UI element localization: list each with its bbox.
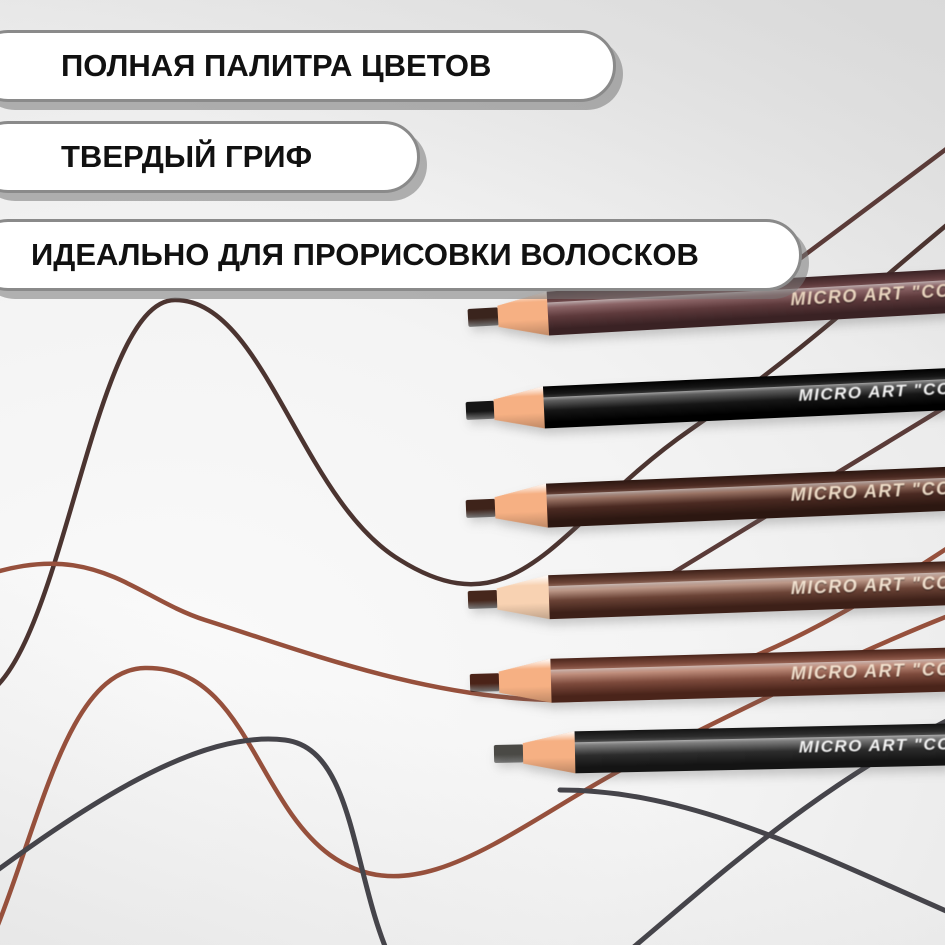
badge-hardness[interactable]: ТВЕРДЫЙ ГРИФ [0, 121, 420, 193]
badge-hardness-label: ТВЕРДЫЙ ГРИФ [61, 139, 312, 175]
pencil-wood-cone [493, 386, 545, 430]
pencil-wood-cone [496, 575, 550, 621]
pencil-tip [467, 307, 498, 327]
pencil-tip [468, 590, 498, 609]
pencil-brand-text: MICRO ART "CO [790, 280, 945, 310]
curve-charcoal-bottom [560, 790, 945, 930]
pencil-wood-cone [494, 484, 548, 530]
pencil-brand-text: MICRO ART "CO [798, 379, 945, 406]
badge-hairstrokes[interactable]: ИДЕАЛЬНО ДЛЯ ПРОРИСОВКИ ВОЛОСКОВ [0, 219, 802, 291]
product-banner: MICRO ART "COMICRO ART "COMICRO ART "COM… [0, 0, 945, 945]
pencil-wood-cone [497, 292, 549, 339]
pencil-wood-cone [498, 659, 551, 704]
pencil-brand-text: MICRO ART "CO [791, 659, 945, 684]
pencil-tip [466, 499, 496, 518]
badge-palette[interactable]: ПОЛНАЯ ПАЛИТРА ЦВЕТОВ [0, 30, 616, 102]
badge-palette-label: ПОЛНАЯ ПАЛИТРА ЦВЕТОВ [61, 48, 491, 84]
pencil-tip [494, 744, 523, 763]
pencil-brand-text: MICRO ART "CO [799, 734, 945, 757]
pencil-tip [470, 673, 499, 692]
badge-hairstrokes-label: ИДЕАЛЬНО ДЛЯ ПРОРИСОВКИ ВОЛОСКОВ [31, 237, 699, 273]
pencil-wood-cone [523, 731, 576, 774]
pencil-brand-text: MICRO ART "CO [790, 573, 945, 600]
pencil-brand-text: MICRO ART "CO [790, 478, 945, 506]
pencil-tip [466, 401, 495, 420]
pencil-barrel: MICRO ART "CO [575, 723, 945, 773]
